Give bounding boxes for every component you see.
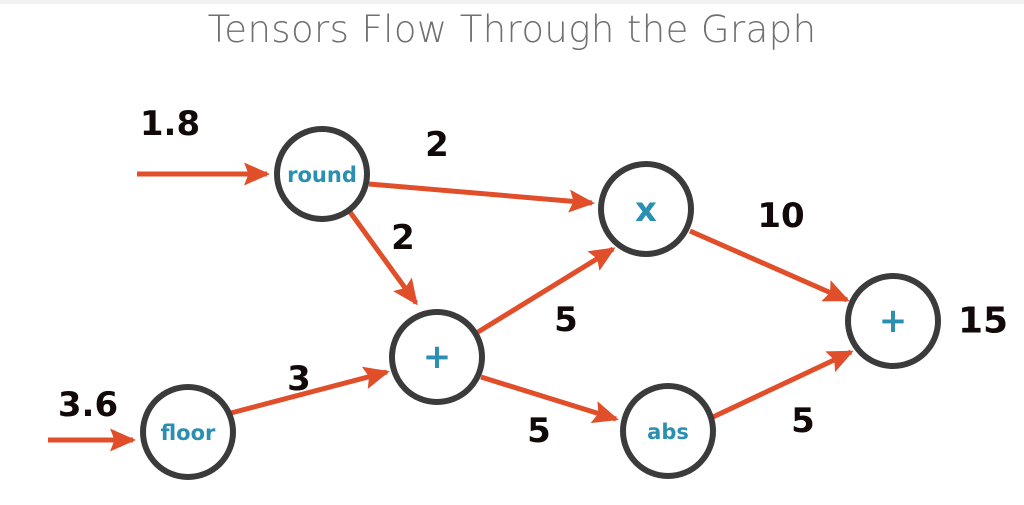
edge-add1-to-multiply [478,249,613,332]
node-add-1[interactable] [392,312,482,402]
node-multiply[interactable] [601,164,691,254]
edge-round-to-multiply [369,184,592,203]
node-floor[interactable] [143,387,233,477]
edge-multiply-to-add2 [690,231,847,300]
node-add-2[interactable] [848,276,938,366]
edge-floor-to-add1 [231,372,387,413]
edge-add1-to-abs [481,377,616,419]
nodes-layer [143,129,938,477]
node-round[interactable] [277,129,367,219]
output-value-label: 15 [958,301,1008,342]
node-abs[interactable] [623,386,713,476]
edge-abs-to-add2 [713,352,851,417]
diagram-page: Tensors Flow Through the Graph [0,0,1024,505]
edge-round-to-add1 [350,212,416,303]
graph-canvas [0,0,1024,505]
